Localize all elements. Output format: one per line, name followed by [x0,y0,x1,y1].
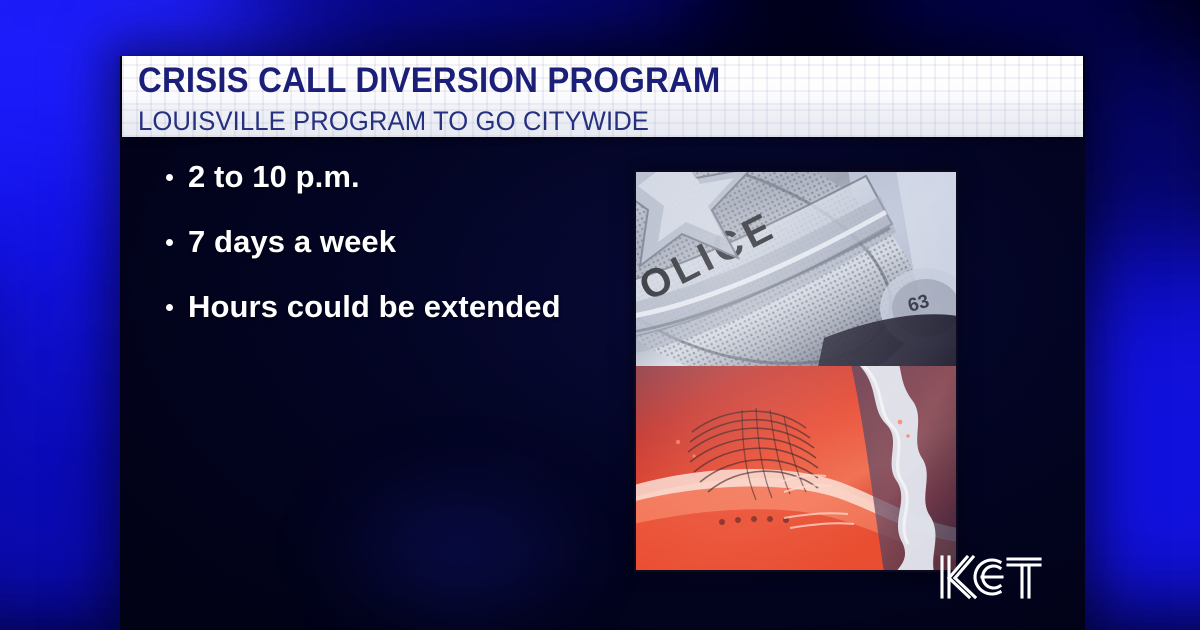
list-item: Hours could be extended [160,288,600,325]
police-badge-photo: POLICE 63 [634,170,958,572]
subtitle-band: LOUISVILLE PROGRAM TO GO CITYWIDE [122,105,1083,137]
ket-logo [934,551,1044,603]
police-badge-illustration: POLICE 63 [634,170,958,572]
page-subtitle: LOUISVILLE PROGRAM TO GO CITYWIDE [138,107,649,136]
title-bar: CRISIS CALL DIVERSION PROGRAM LOUISVILLE… [122,56,1083,137]
bullet-list: 2 to 10 p.m. 7 days a week Hours could b… [160,158,600,353]
panel-glow [250,416,670,630]
lower-third-graphic: CRISIS CALL DIVERSION PROGRAM LOUISVILLE… [0,0,1200,630]
background-blob [270,0,690,50]
list-item: 7 days a week [160,223,600,260]
list-item: 2 to 10 p.m. [160,158,600,195]
title-band: CRISIS CALL DIVERSION PROGRAM [122,56,1083,105]
page-title: CRISIS CALL DIVERSION PROGRAM [138,58,720,103]
ket-logo-mark [934,551,1044,603]
